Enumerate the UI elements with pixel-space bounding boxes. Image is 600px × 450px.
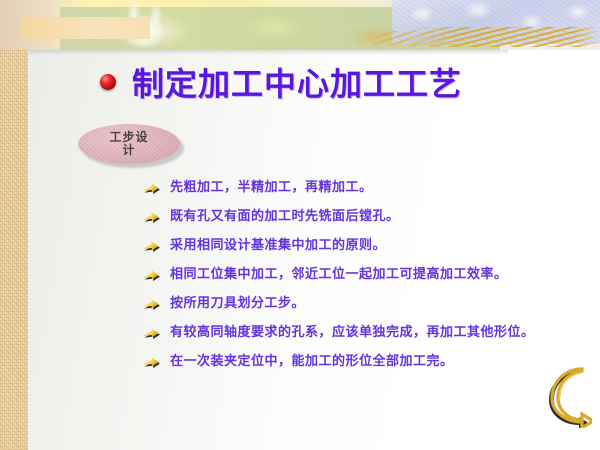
list-item-text: 先粗加工，半精加工，再精加工。	[170, 180, 373, 195]
oval-body: 工步设 计	[78, 124, 180, 164]
gold-right-arrow-icon	[142, 182, 160, 196]
slide-canvas: 制定加工中心加工工艺 工步设 计 先粗加工，半精加工，再精加工。	[0, 0, 600, 450]
list-item: 相同工位集中加工，邻近工位一起加工可提高加工效率。	[142, 267, 572, 296]
list-item-text: 按所用刀具划分工步。	[170, 296, 305, 311]
list-item-text: 采用相同设计基准集中加工的原则。	[170, 238, 386, 253]
header-decoration-band	[0, 0, 600, 50]
list-item: 采用相同设计基准集中加工的原则。	[142, 238, 572, 267]
slide-title: 制定加工中心加工工艺	[132, 59, 462, 105]
gold-right-arrow-icon	[142, 269, 160, 283]
list-item-text: 在一次装夹定位中，能加工的形位全部加工完。	[170, 354, 454, 369]
oval-label-line2: 计	[122, 144, 135, 157]
gold-right-arrow-icon	[142, 356, 160, 370]
list-item: 先粗加工，半精加工，再精加工。	[142, 180, 572, 209]
slide-title-row: 制定加工中心加工工艺	[100, 60, 550, 104]
red-sphere-bullet-icon	[100, 74, 116, 90]
gold-right-arrow-icon	[142, 327, 160, 341]
list-item: 既有孔又有面的加工时先铣面后镗孔。	[142, 209, 572, 238]
curved-arrow-icon	[548, 366, 592, 428]
gold-right-arrow-icon	[142, 298, 160, 312]
list-item: 在一次装夹定位中，能加工的形位全部加工完。	[142, 354, 572, 383]
gold-right-arrow-icon	[142, 211, 160, 225]
list-item-text: 既有孔又有面的加工时先铣面后镗孔。	[170, 209, 400, 224]
list-item: 按所用刀具划分工步。	[142, 296, 572, 325]
band-drop-shadow	[28, 50, 508, 55]
list-item-text: 相同工位集中加工，邻近工位一起加工可提高加工效率。	[170, 267, 508, 282]
section-label-oval: 工步设 计	[78, 124, 180, 164]
bullet-list: 先粗加工，半精加工，再精加工。 既有孔又有面的加工时先铣面后镗孔。 采用	[142, 180, 572, 383]
band-wheat-image	[404, 27, 600, 47]
gold-right-arrow-icon	[142, 240, 160, 254]
left-texture-strip	[0, 0, 28, 450]
list-item-text: 有较高同轴度要求的孔系，应该单独完成，再加工其他形位。	[170, 325, 535, 340]
list-item: 有较高同轴度要求的孔系，应该单独完成，再加工其他形位。	[142, 325, 572, 354]
band-tan-rectangle	[22, 17, 150, 39]
